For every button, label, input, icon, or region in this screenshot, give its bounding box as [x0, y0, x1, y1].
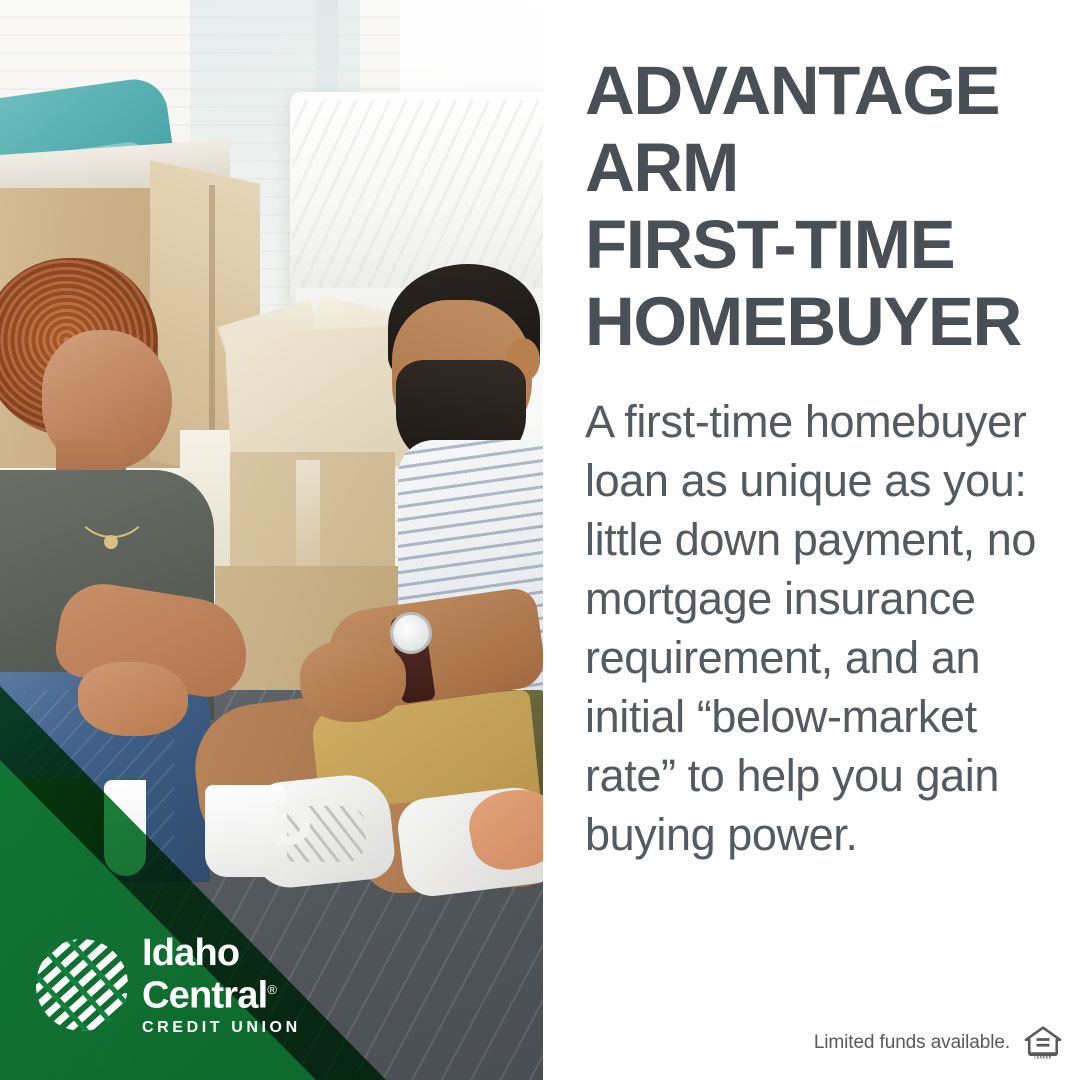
photo-box-tape	[296, 460, 320, 572]
iccu-logo: Idaho Central® CREDIT UNION	[34, 935, 274, 1035]
svg-text:LENDER: LENDER	[1034, 1056, 1051, 1060]
logo-name-line-1: Idaho	[142, 935, 322, 971]
headline-line-3: FIRST-TIME	[585, 206, 1055, 283]
headline-line-2: ARM	[585, 129, 1055, 206]
registered-trademark-icon: ®	[267, 982, 276, 997]
headline-line-1: ADVANTAGE	[585, 52, 1055, 129]
photo-woman-pendant	[104, 535, 118, 549]
iccu-slash-mark-icon	[34, 937, 130, 1033]
ad-canvas: Idaho Central® CREDIT UNION ADVANTAGE AR…	[0, 0, 1080, 1080]
logo-tagline: CREDIT UNION	[142, 1017, 322, 1039]
equal-housing-lender-icon: LENDER	[1024, 1026, 1062, 1060]
iccu-wordmark: Idaho Central® CREDIT UNION	[142, 935, 322, 1039]
photo-woman-hand	[78, 662, 188, 736]
logo-name-central: Central	[142, 975, 267, 1017]
footer-row: Limited funds available. LENDER	[814, 1026, 1062, 1060]
content-panel: ADVANTAGE ARM FIRST-TIME HOMEBUYER A fir…	[543, 0, 1080, 1080]
limited-funds-note: Limited funds available.	[814, 1032, 1010, 1054]
page-title: ADVANTAGE ARM FIRST-TIME HOMEBUYER	[585, 52, 1055, 360]
photo-woman-necklace	[74, 468, 150, 538]
logo-name-line-2: Central®	[142, 971, 322, 1015]
photo-lamp-wrap	[292, 100, 543, 300]
photo-mug-front	[205, 785, 287, 877]
body-copy: A first-time homebuyer loan as unique as…	[585, 392, 1057, 864]
headline-line-4: HOMEBUYER	[585, 283, 1055, 360]
lifestyle-photo: Idaho Central® CREDIT UNION	[0, 0, 543, 1080]
photo-man-hand	[300, 640, 406, 722]
